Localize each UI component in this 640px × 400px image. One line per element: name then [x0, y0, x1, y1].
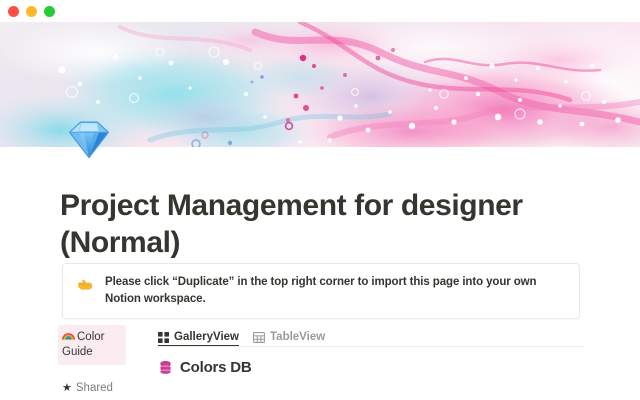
view-tabs: GalleryView TableView: [158, 325, 586, 347]
table-grid-icon: [253, 332, 265, 343]
gem-stone-emoji[interactable]: [62, 112, 116, 166]
tab-gallery-view-label: GalleryView: [174, 331, 239, 343]
duplicate-callout: Please click “Duplicate” in the top righ…: [62, 263, 580, 319]
zoom-window-button[interactable]: [44, 6, 55, 17]
shared-link[interactable]: ★ Shared: [58, 381, 140, 396]
shared-label: Shared: [76, 381, 113, 396]
database-title-row: Colors DB: [158, 359, 586, 376]
close-window-button[interactable]: [8, 6, 19, 17]
lower-content-area: Color Guide ★ Shared: [0, 325, 640, 400]
database-icon: [158, 360, 173, 375]
color-guide-link[interactable]: Color Guide: [58, 325, 126, 365]
page-body: Project Management for designer (Normal)…: [0, 147, 640, 400]
minimize-window-button[interactable]: [26, 6, 37, 17]
notion-window: Project Management for designer (Normal)…: [0, 0, 640, 400]
tab-table-view[interactable]: TableView: [253, 331, 325, 347]
window-titlebar: [0, 0, 640, 22]
database-title: Colors DB: [180, 359, 252, 376]
tab-gallery-view[interactable]: GalleryView: [158, 331, 239, 347]
gallery-grid-icon: [158, 332, 169, 343]
database-views-column: GalleryView TableView: [158, 325, 586, 376]
left-column: Color Guide ★ Shared: [58, 325, 140, 396]
callout-text: Please click “Duplicate” in the top righ…: [105, 274, 565, 308]
star-icon: ★: [62, 383, 72, 394]
rainbow-emoji: [62, 329, 75, 342]
page-title: Project Management for designer (Normal): [60, 187, 580, 261]
view-tabs-divider: [158, 346, 584, 347]
tab-table-view-label: TableView: [270, 331, 325, 343]
backhand-index-pointing-right-emoji: [75, 275, 95, 295]
